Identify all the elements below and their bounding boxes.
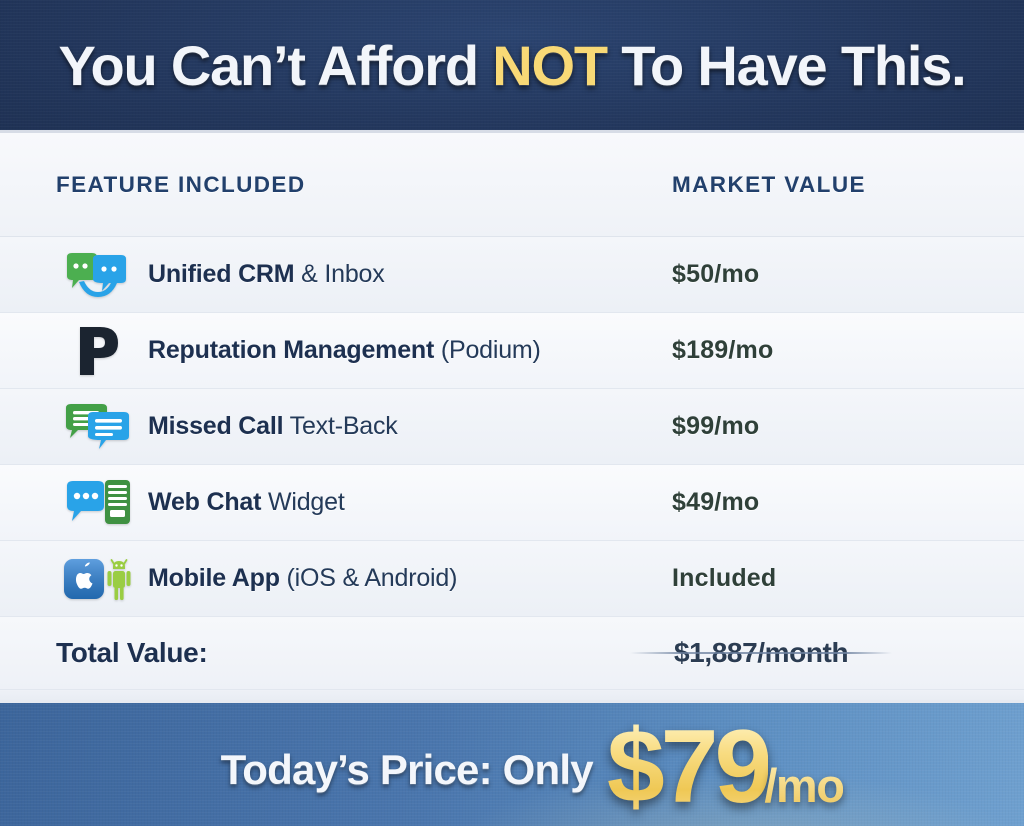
headline-part-1: You Can’t Afford — [58, 34, 492, 97]
column-header-feature: FEATURE INCLUDED — [0, 172, 620, 198]
market-value-cell: $189/mo — [620, 336, 1024, 365]
feature-cell: Unified CRM & Inbox — [0, 252, 620, 298]
total-value-cell: $1,887/month — [620, 637, 1024, 669]
market-value-cell: $99/mo — [620, 412, 1024, 441]
chat-bubbles-green-blue-icon — [56, 252, 140, 298]
feature-label-strong: Unified CRM — [148, 260, 294, 288]
feature-label: Web Chat Widget — [148, 488, 345, 517]
todays-price-label: Today’s Price: Only — [221, 746, 593, 794]
feature-label-light: (Podium) — [434, 336, 541, 364]
feature-cell: Mobile App (iOS & Android) — [0, 554, 620, 604]
apple-android-icon — [56, 554, 140, 604]
table-row: Web Chat Widget $49/mo — [0, 465, 1024, 541]
headline-part-2: To Have This. — [607, 34, 966, 97]
feature-label: Mobile App (iOS & Android) — [148, 564, 457, 593]
total-value-row: Total Value: $1,887/month — [0, 617, 1024, 690]
table-row: Unified CRM & Inbox $50/mo — [0, 237, 1024, 313]
headline-highlight-not: NOT — [492, 34, 607, 97]
feature-label: Reputation Management (Podium) — [148, 336, 541, 365]
feature-label-strong: Missed Call — [148, 412, 283, 440]
feature-cell: Web Chat Widget — [0, 478, 620, 528]
table-row: Reputation Management (Podium) $189/mo — [0, 313, 1024, 389]
price-footer-content: Today’s Price: Only $79 /mo — [0, 715, 1024, 819]
message-bubbles-icon — [56, 402, 140, 452]
feature-label-strong: Web Chat — [148, 488, 261, 516]
total-value-amount-struck: $1,887/month — [656, 637, 866, 669]
feature-label-light: & Inbox — [294, 260, 384, 288]
feature-cell: Missed Call Text-Back — [0, 402, 620, 452]
market-value-cell: $50/mo — [620, 260, 1024, 289]
table-row: Missed Call Text-Back $99/mo — [0, 389, 1024, 465]
feature-label-light: Widget — [261, 488, 344, 516]
pricing-value-stack-graphic: You Can’t Afford NOT To Have This. FEATU… — [0, 0, 1024, 826]
value-table: FEATURE INCLUDED MARKET VALUE Unified CR… — [0, 133, 1024, 700]
web-chat-widget-icon — [56, 478, 140, 528]
headline-text: You Can’t Afford NOT To Have This. — [58, 33, 965, 98]
feature-label-light: Text-Back — [283, 412, 397, 440]
price-period: /mo — [764, 758, 843, 813]
price-footer-banner: Today’s Price: Only $79 /mo — [0, 700, 1024, 826]
column-header-market-value: MARKET VALUE — [620, 172, 1024, 198]
table-bottom-spacer — [0, 690, 1024, 700]
feature-cell: Reputation Management (Podium) — [0, 325, 620, 377]
feature-label: Unified CRM & Inbox — [148, 260, 385, 289]
market-value-cell: $49/mo — [620, 488, 1024, 517]
table-header-row: FEATURE INCLUDED MARKET VALUE — [0, 133, 1024, 237]
headline-banner: You Can’t Afford NOT To Have This. — [0, 0, 1024, 133]
feature-label-light: (iOS & Android) — [280, 564, 457, 592]
total-value-label: Total Value: — [0, 637, 620, 669]
price-amount: $79 — [607, 715, 769, 819]
feature-label: Missed Call Text-Back — [148, 412, 398, 441]
feature-label-strong: Reputation Management — [148, 336, 434, 364]
feature-label-strong: Mobile App — [148, 564, 280, 592]
podium-p-logo-icon — [56, 325, 140, 377]
table-row: Mobile App (iOS & Android) Included — [0, 541, 1024, 617]
market-value-cell: Included — [620, 564, 1024, 593]
